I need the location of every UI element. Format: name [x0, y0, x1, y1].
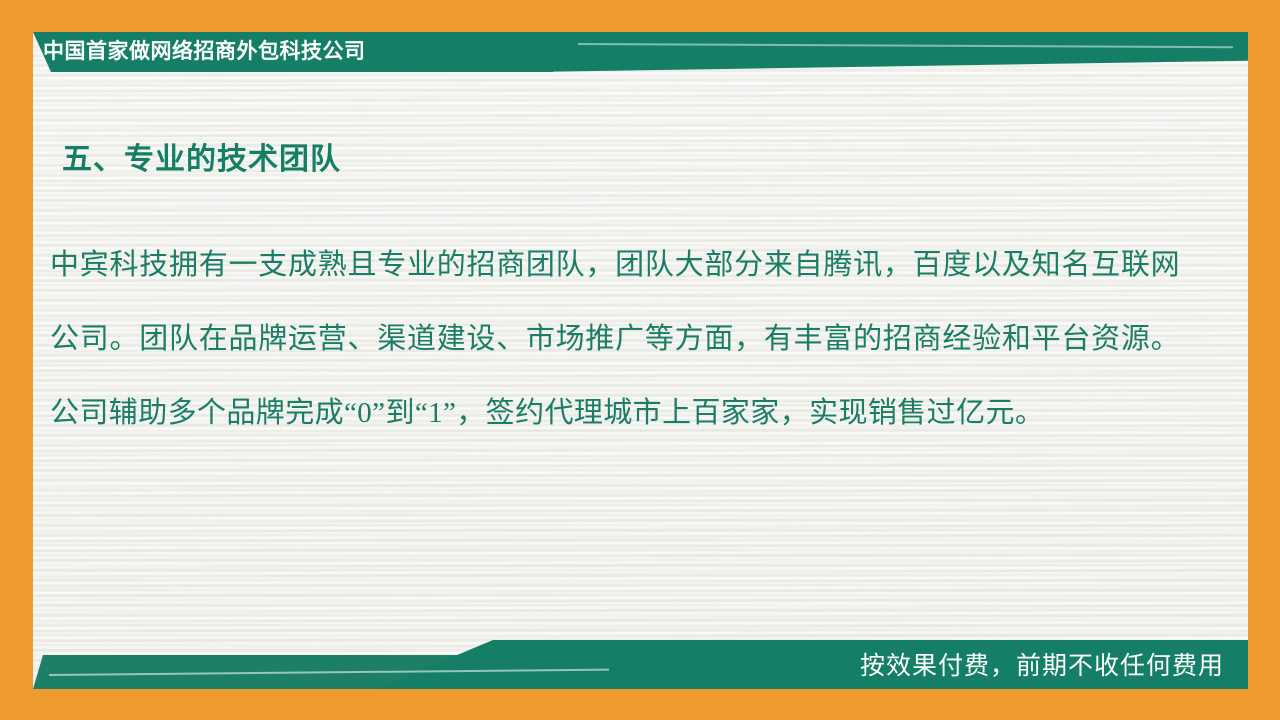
body-paragraph: 中宾科技拥有一支成熟且专业的招商团队，团队大部分来自腾讯，百度以及知名互联网公司… [50, 228, 1180, 450]
section-heading: 五、专业的技术团队 [62, 134, 341, 178]
header-title: 中国首家做网络招商外包科技公司 [43, 32, 366, 72]
slide-canvas: 中国首家做网络招商外包科技公司 五、专业的技术团队 中宾科技拥有一支成熟且专业的… [0, 0, 1280, 720]
footer-tagline: 按效果付费，前期不收任何费用 [860, 644, 1224, 689]
slide-header: 中国首家做网络招商外包科技公司 [33, 32, 1248, 72]
body-paragraph-block: 中宾科技拥有一支成熟且专业的招商团队，团队大部分来自腾讯，百度以及知名互联网公司… [50, 228, 1180, 450]
slide-footer: 按效果付费，前期不收任何费用 [33, 600, 1248, 689]
header-green-band [528, 32, 1248, 72]
